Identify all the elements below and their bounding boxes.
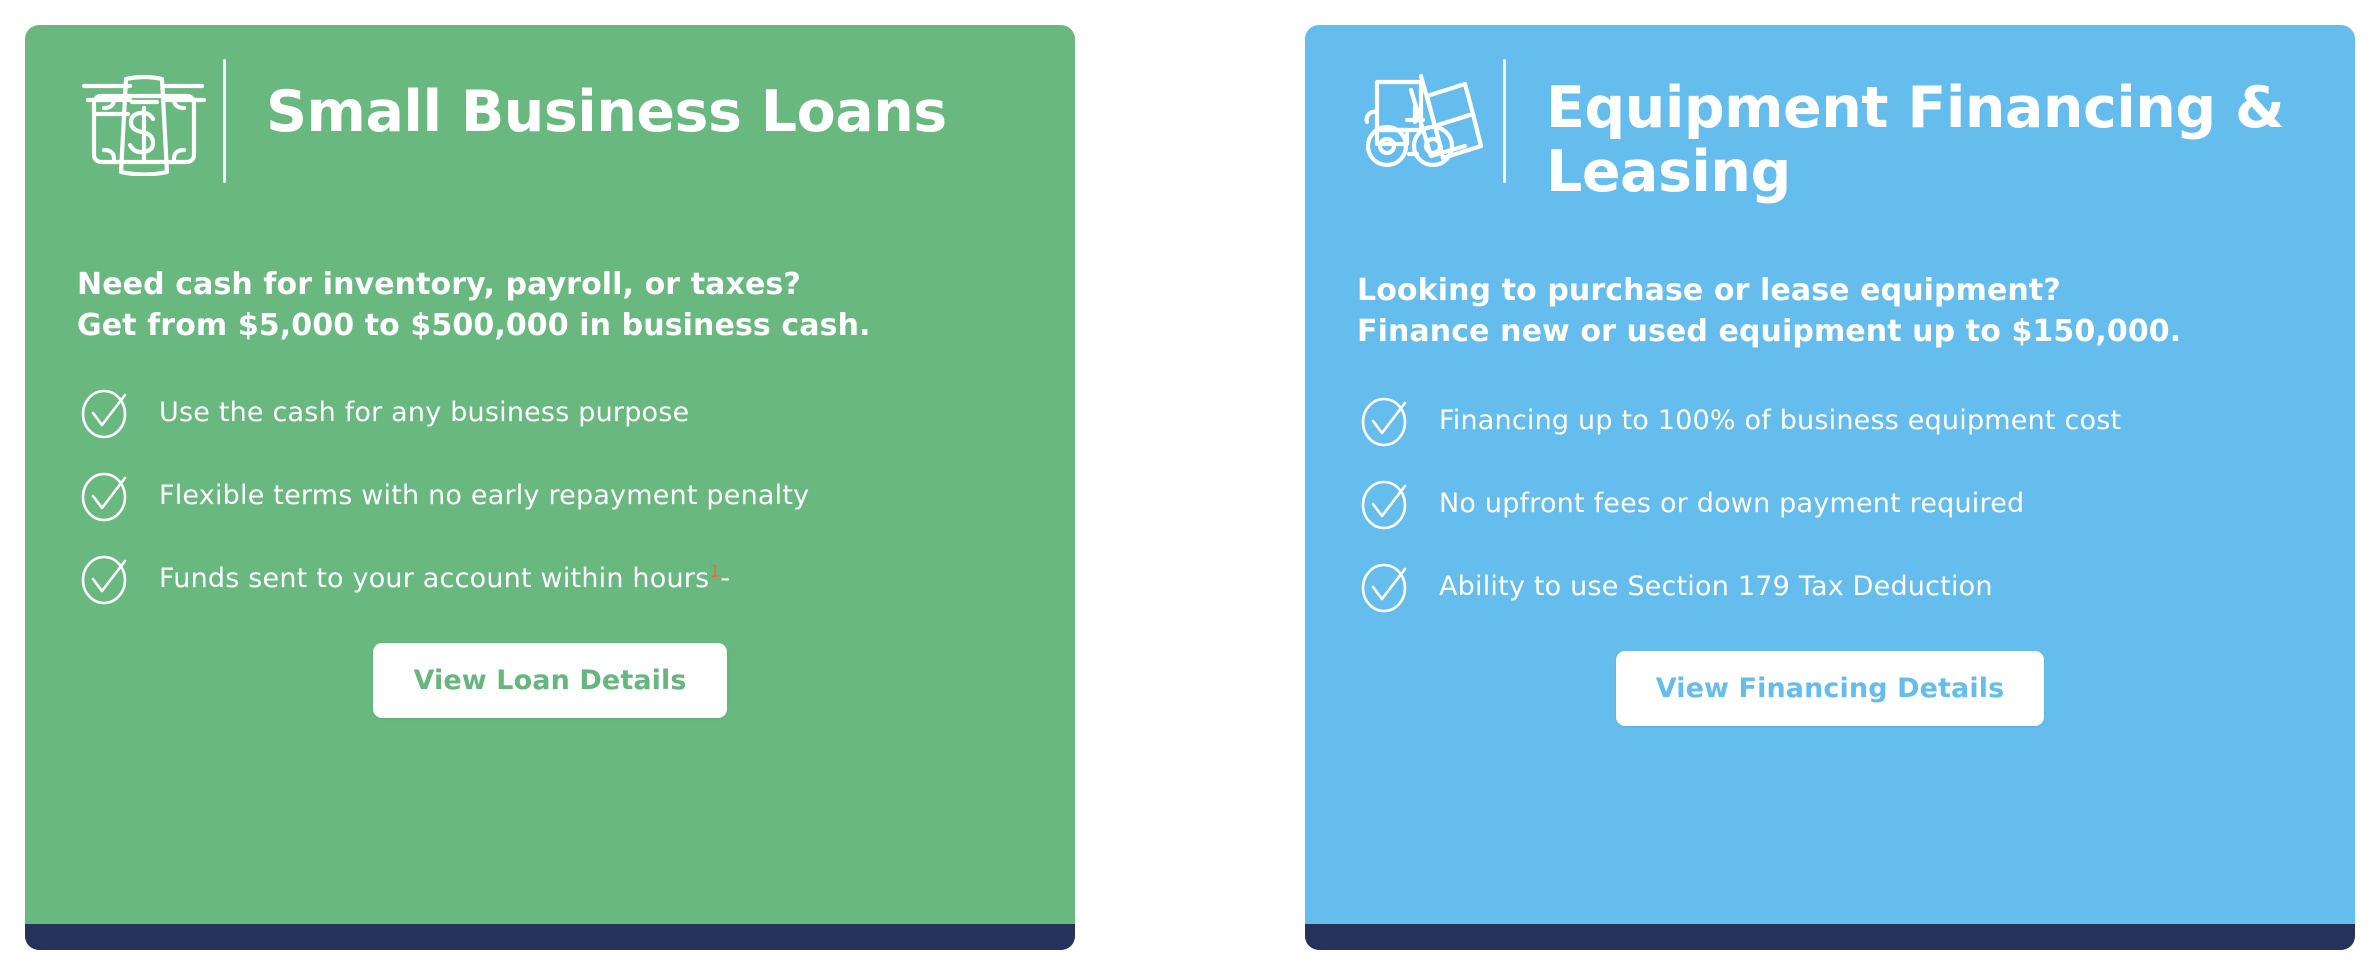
feature-label: Ability to use Section 179 Tax Deduction	[1439, 571, 1993, 602]
card-body: Small Business Loans Need cash for inven…	[25, 25, 1075, 924]
feature-text: Financing up to 100% of business equipme…	[1439, 404, 2121, 438]
card-title: Small Business Loans	[226, 55, 1031, 145]
card-header: Equipment Financing & Leasing	[1349, 25, 2311, 225]
list-item: No upfront fees or down payment required	[1357, 476, 2311, 532]
list-item: Financing up to 100% of business equipme…	[1357, 393, 2311, 449]
feature-list: Financing up to 100% of business equipme…	[1349, 393, 2311, 615]
feature-text: No upfront fees or down payment required	[1439, 487, 2024, 521]
cash-stack-icon	[69, 55, 219, 185]
card-equipment-financing[interactable]: Equipment Financing & Leasing Looking to…	[1305, 25, 2355, 950]
header-divider	[223, 59, 226, 183]
card-subheading-line-1: Need cash for inventory, payroll, or tax…	[77, 265, 1031, 306]
card-subheading-line-1: Looking to purchase or lease equipment?	[1357, 271, 2311, 312]
card-body: Equipment Financing & Leasing Looking to…	[1305, 25, 2355, 924]
card-subheading-line-2: Get from $5,000 to $500,000 in business …	[77, 306, 1031, 347]
list-item: Funds sent to your account within hours1…	[77, 551, 1031, 607]
card-subheading-line-2: Finance new or used equipment up to $150…	[1357, 312, 2311, 353]
feature-text: Ability to use Section 179 Tax Deduction	[1439, 570, 1993, 604]
check-circle-icon	[1357, 476, 1413, 532]
check-circle-icon	[1357, 559, 1413, 615]
check-circle-icon	[77, 385, 133, 441]
card-footer-bar	[25, 924, 1075, 950]
feature-text: Flexible terms with no early repayment p…	[159, 479, 809, 513]
feature-label: Use the cash for any business purpose	[159, 397, 689, 428]
feature-label: Funds sent to your account within hours	[159, 563, 709, 594]
card-subheading: Need cash for inventory, payroll, or tax…	[69, 265, 1031, 347]
feature-label: No upfront fees or down payment required	[1439, 488, 2024, 519]
feature-text: Funds sent to your account within hours1…	[159, 562, 730, 596]
card-title: Equipment Financing & Leasing	[1506, 55, 2311, 205]
card-subheading: Looking to purchase or lease equipment? …	[1349, 271, 2311, 353]
view-loan-details-button[interactable]: View Loan Details	[373, 643, 726, 718]
card-small-business-loans[interactable]: Small Business Loans Need cash for inven…	[25, 25, 1075, 950]
feature-label: Financing up to 100% of business equipme…	[1439, 405, 2121, 436]
list-item: Flexible terms with no early repayment p…	[77, 468, 1031, 524]
view-financing-details-button[interactable]: View Financing Details	[1616, 651, 2045, 726]
feature-label: Flexible terms with no early repayment p…	[159, 480, 809, 511]
list-item: Ability to use Section 179 Tax Deduction	[1357, 559, 2311, 615]
card-footer-bar	[1305, 924, 2355, 950]
card-header: Small Business Loans	[69, 25, 1031, 225]
footnote-marker: 1	[709, 562, 720, 582]
check-circle-icon	[77, 551, 133, 607]
cta-container: View Loan Details	[69, 643, 1031, 718]
feature-list: Use the cash for any business purpose Fl…	[69, 385, 1031, 607]
product-cards-panel: Small Business Loans Need cash for inven…	[0, 0, 2376, 976]
feature-text: Use the cash for any business purpose	[159, 396, 689, 430]
check-circle-icon	[1357, 393, 1413, 449]
header-divider	[1503, 59, 1506, 183]
list-item: Use the cash for any business purpose	[77, 385, 1031, 441]
forklift-icon	[1349, 55, 1499, 185]
check-circle-icon	[77, 468, 133, 524]
cta-container: View Financing Details	[1349, 651, 2311, 726]
